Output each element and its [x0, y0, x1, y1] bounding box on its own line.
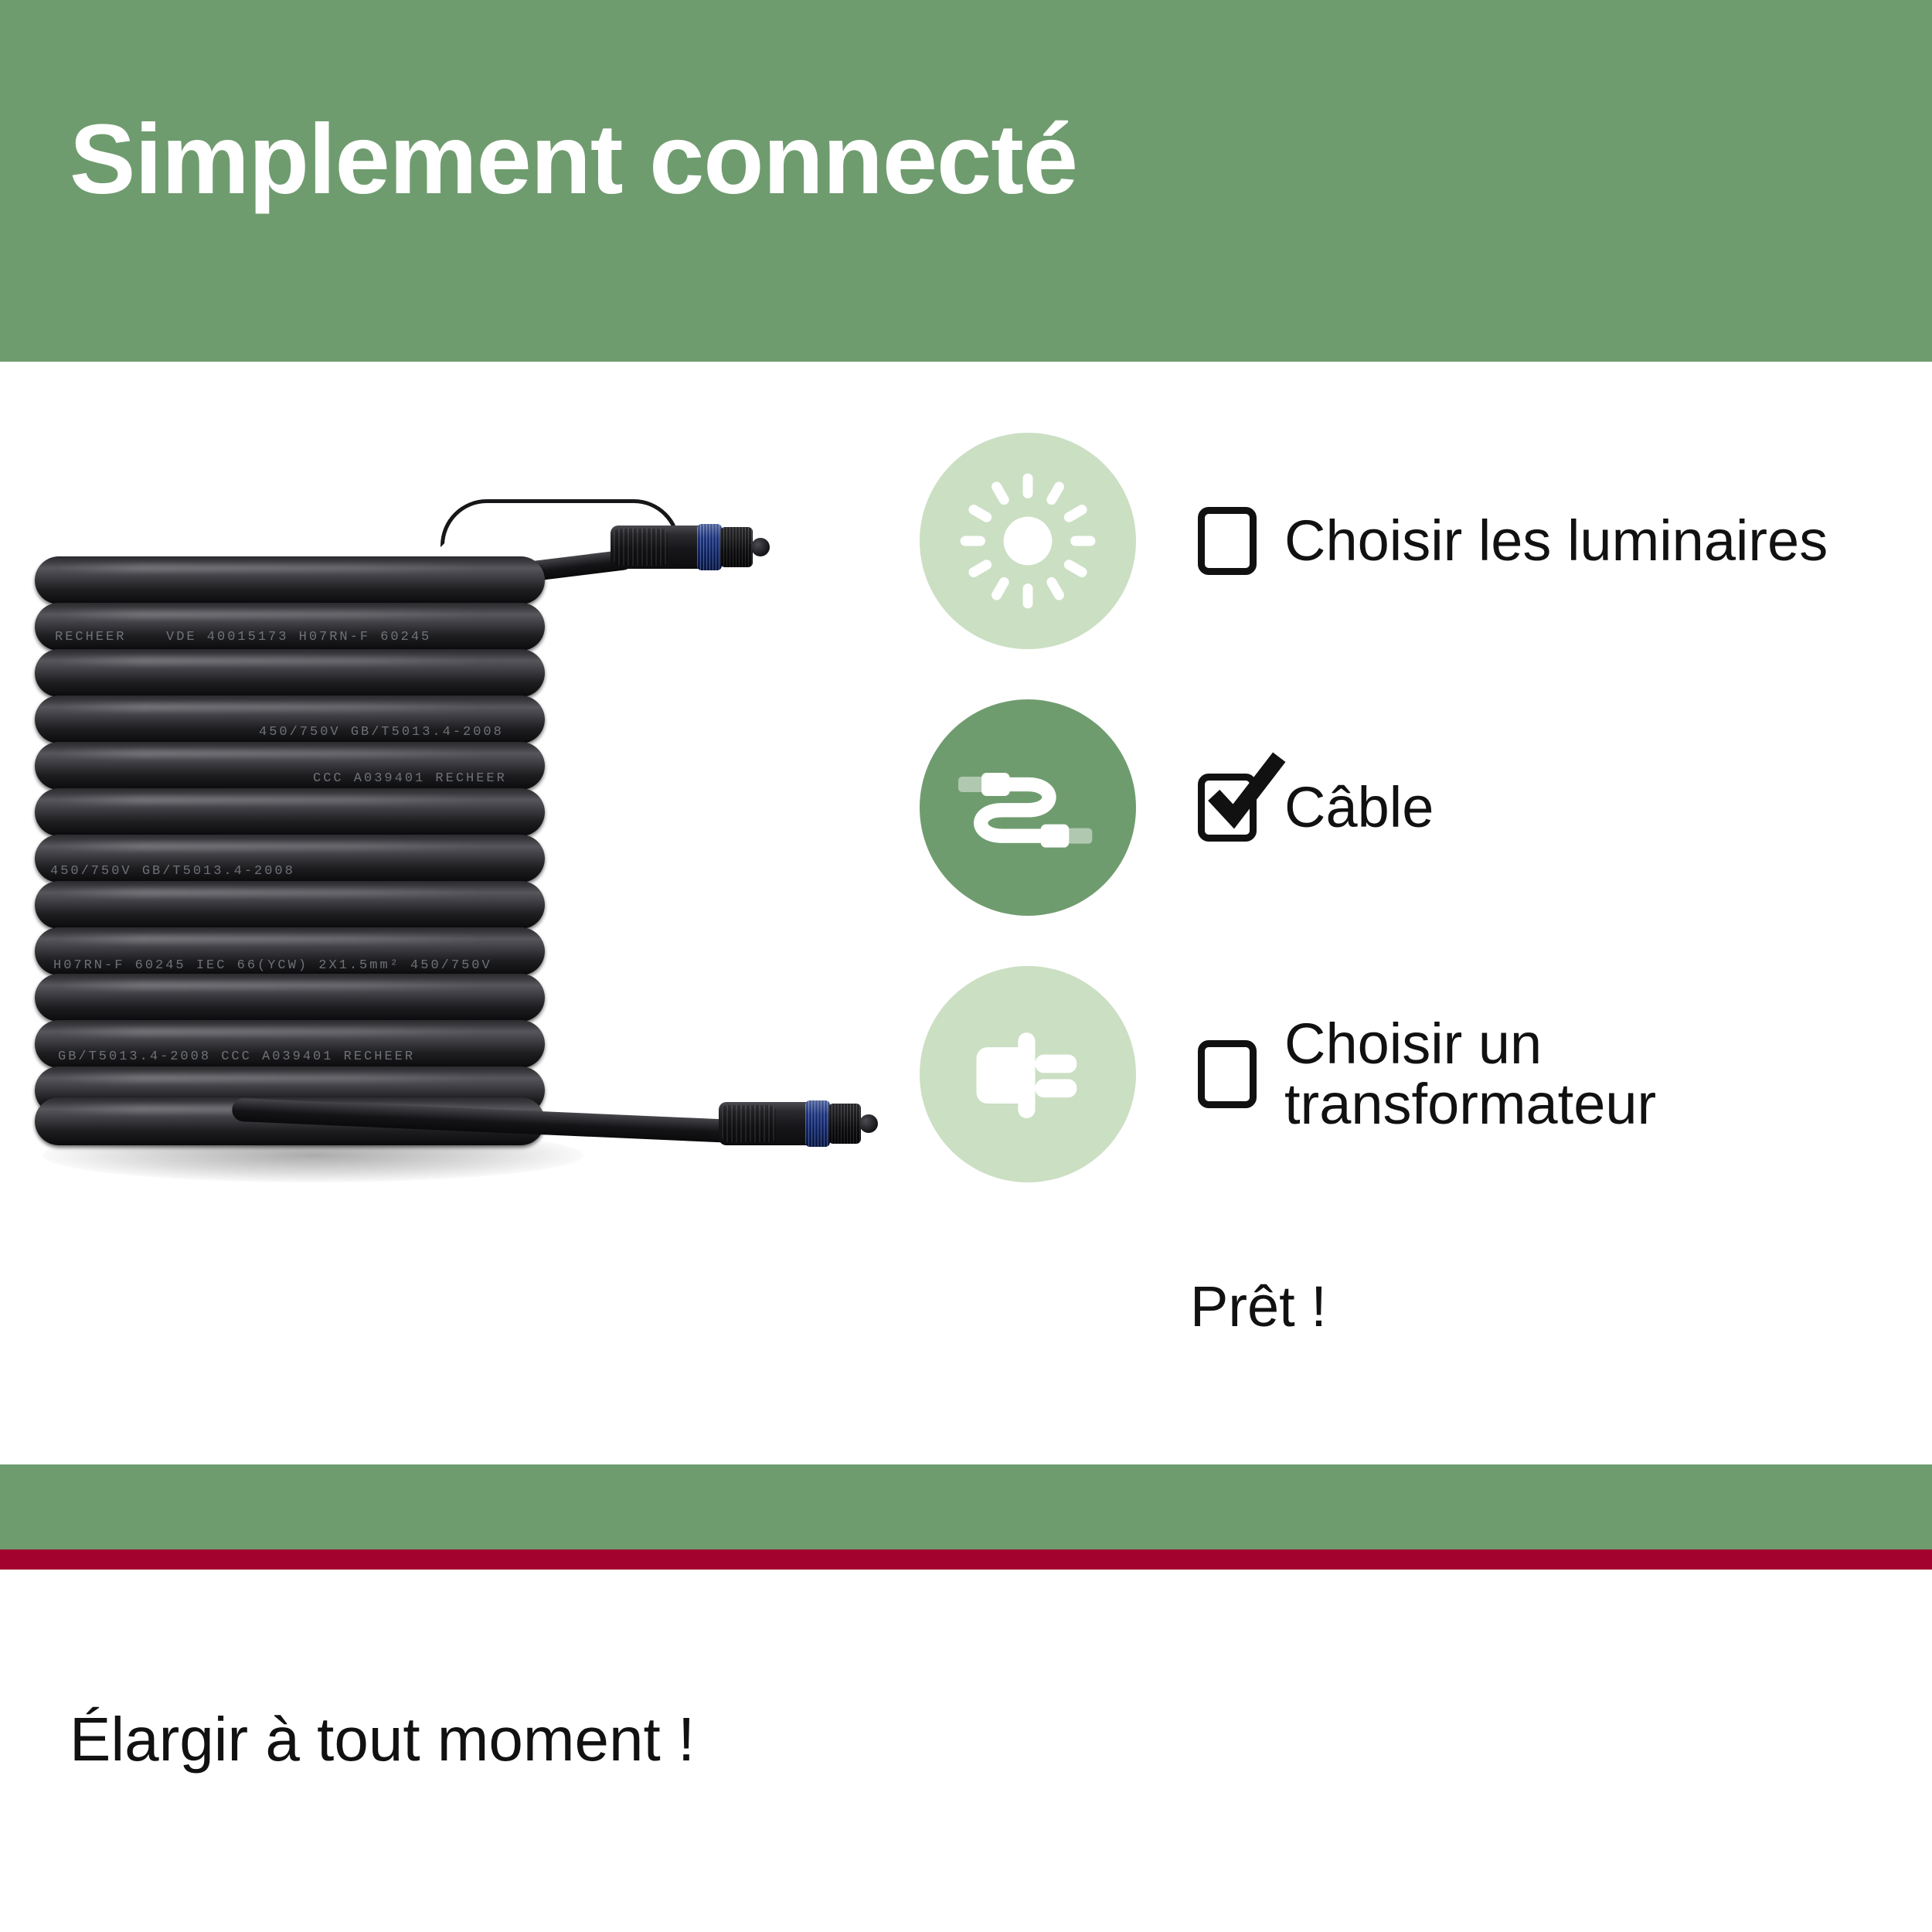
sun-icon: [920, 433, 1136, 649]
checklist-row-cable[interactable]: Câble: [920, 699, 1434, 916]
footer-crimson-band: [0, 1549, 1932, 1570]
connector-blue-ring-top: [697, 524, 722, 570]
checkbox-cable[interactable]: [1198, 774, 1257, 842]
ready-status-text: Prêt !: [1190, 1274, 1327, 1339]
connector-tip-bottom: [828, 1104, 861, 1144]
cable-coil-graphic: RECHEER VDE 40015173 H07RN-F 60245 450/7…: [0, 410, 951, 1229]
checkbox-transformateur[interactable]: [1198, 1040, 1257, 1108]
checklist-row-transformateur[interactable]: Choisir un transformateur: [920, 966, 1656, 1182]
connector-tip-top: [720, 527, 753, 567]
connector-ribs-bottom: [722, 1105, 776, 1142]
checklist-label-transformateur-wrap: Choisir un transformateur: [1284, 1014, 1656, 1135]
checklist-label-transformateur-line1: Choisir un: [1284, 1014, 1656, 1074]
connector-blue-ring-bottom: [805, 1100, 830, 1147]
checkbox-luminaires[interactable]: [1198, 507, 1257, 575]
checklist-label-transformateur-line2: transformateur: [1284, 1074, 1656, 1134]
coil-loop: [35, 742, 545, 790]
checklist-label-cable: Câble: [1284, 777, 1434, 838]
page-title: Simplement connecté: [70, 108, 1077, 212]
footer-tagline: Élargir à tout moment !: [70, 1704, 695, 1775]
check-icon: [1200, 747, 1291, 838]
connector-cap-top: [751, 538, 770, 556]
connector-cap-bottom: [859, 1114, 878, 1133]
coil-loop: [35, 881, 545, 929]
coil-loops: RECHEER VDE 40015173 H07RN-F 60245 450/7…: [35, 556, 560, 1144]
coil-loop: [35, 696, 545, 743]
coil-loop: [35, 649, 545, 697]
coil-loop: [35, 556, 545, 604]
checklist-label-luminaires: Choisir les luminaires: [1284, 511, 1828, 571]
coil-loop: [35, 1020, 545, 1068]
coil-loop: [35, 974, 545, 1022]
cable-icon: [920, 699, 1136, 916]
coil-loop: [35, 927, 545, 975]
connector-ribs-top: [614, 529, 668, 566]
coil-loop: [35, 603, 545, 651]
coil-loop: [35, 835, 545, 883]
coil-loop: [35, 788, 545, 836]
footer-green-band: [0, 1464, 1932, 1549]
product-image-cable-coil: RECHEER VDE 40015173 H07RN-F 60245 450/7…: [0, 410, 951, 1229]
header-band: Simplement connecté: [0, 0, 1932, 362]
checklist-row-luminaires[interactable]: Choisir les luminaires: [920, 433, 1828, 649]
plug-icon: [920, 966, 1136, 1182]
